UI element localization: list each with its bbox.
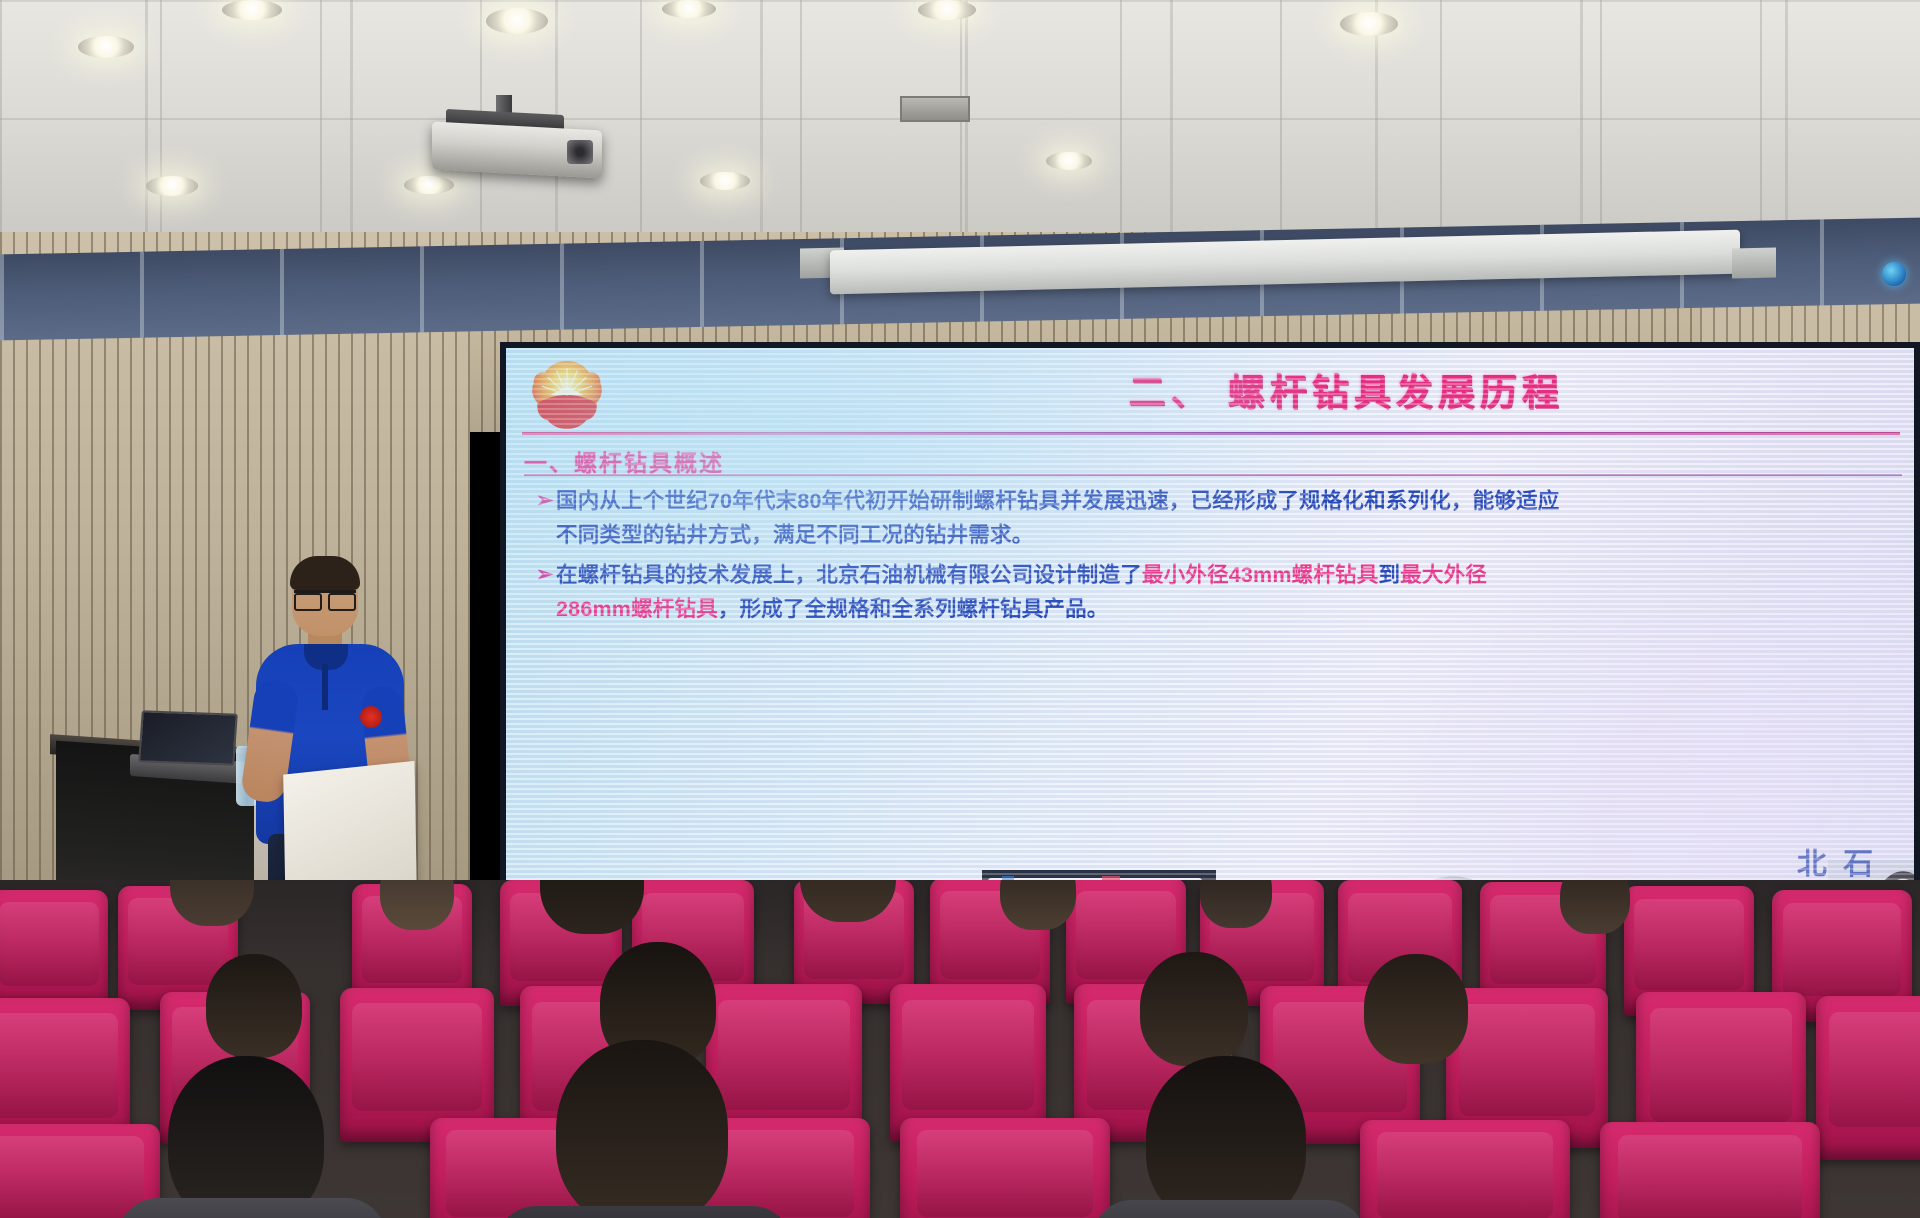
ceiling-light xyxy=(700,172,750,190)
led-screen[interactable]: 二、 螺杆钻具发展历程 一、螺杆钻具概述 ➢ 国内从上个世纪70年代末80年代初… xyxy=(506,348,1914,916)
ceiling-light xyxy=(1340,12,1398,36)
bullet-line: 国内从上个世纪70年代末80年代初开始研制螺杆钻具并发展迅速，已经形成了规格化和… xyxy=(556,484,1896,518)
projector-lens xyxy=(567,140,593,164)
bullet-run: 不同类型的钻井方式，满足不同工况的钻井需求。 xyxy=(556,523,1033,547)
slide-subtitle-row: 一、螺杆钻具概述 xyxy=(524,444,1224,478)
ceiling-light xyxy=(78,36,134,58)
audience-head xyxy=(556,1040,728,1218)
audience-shoulders xyxy=(1092,1200,1366,1218)
bullet-run-highlight: 最小外径43mm螺杆钻具 xyxy=(1142,563,1379,587)
presentation-slide: 二、 螺杆钻具发展历程 一、螺杆钻具概述 ➢ 国内从上个世纪70年代末80年代初… xyxy=(506,348,1914,916)
ceiling-vent xyxy=(900,96,970,122)
bullet-run: 国内从上个世纪70年代末80年代初开始研制螺杆钻具并发展迅速，已经形成了规格化和… xyxy=(556,489,1559,513)
audience-head xyxy=(168,1056,324,1218)
ceiling-light xyxy=(486,8,548,34)
ceiling-light xyxy=(404,176,454,194)
ceiling-light xyxy=(662,0,716,18)
bullet-run: 到 xyxy=(1378,563,1400,587)
ceiling xyxy=(0,0,1920,250)
presenter-badge xyxy=(360,706,382,728)
ceiling-light xyxy=(146,176,198,196)
bullet-line: 在螺杆钻具的技术发展上，北京石油机械有限公司设计制造了最小外径43mm螺杆钻具到… xyxy=(556,558,1896,592)
presentation-photo-scene: 二、 螺杆钻具发展历程 一、螺杆钻具概述 ➢ 国内从上个世纪70年代末80年代初… xyxy=(0,0,1920,1218)
bullet-line: 不同类型的钻井方式，满足不同工况的钻井需求。 xyxy=(556,518,1896,552)
laptop-screen xyxy=(138,710,238,765)
audience-shoulders xyxy=(496,1206,792,1218)
audience-head xyxy=(1146,1056,1306,1218)
bpm-logo-cn: 北 石 xyxy=(1776,850,1898,880)
screen-status-indicator xyxy=(1882,262,1906,286)
slide-bullet-list: ➢ 国内从上个世纪70年代末80年代初开始研制螺杆钻具并发展迅速，已经形成了规格… xyxy=(536,484,1896,632)
chair xyxy=(1360,1120,1570,1218)
bullet-run-highlight: 最大外径 xyxy=(1400,563,1487,587)
chair xyxy=(0,890,108,1010)
chair xyxy=(1600,1122,1820,1218)
title-divider xyxy=(522,432,1900,435)
bullet-text: 在螺杆钻具的技术发展上，北京石油机械有限公司设计制造了最小外径43mm螺杆钻具到… xyxy=(556,558,1896,626)
slide-title: 二、 螺杆钻具发展历程 xyxy=(836,362,1856,416)
bullet-line: 286mm螺杆钻具，形成了全规格和全系列螺杆钻具产品。 xyxy=(556,592,1896,626)
bullet-run: 在螺杆钻具的技术发展上，北京石油机械有限公司设计制造了 xyxy=(556,563,1142,587)
ceiling-light xyxy=(222,0,282,20)
bullet-item: ➢ 在螺杆钻具的技术发展上，北京石油机械有限公司设计制造了最小外径43mm螺杆钻… xyxy=(536,558,1896,626)
audience-head xyxy=(1140,952,1248,1066)
slide-title-bar: 二、 螺杆钻具发展历程 xyxy=(836,362,1856,424)
bullet-run-highlight: 286mm螺杆钻具 xyxy=(556,597,718,621)
chair xyxy=(1816,996,1920,1160)
ceiling-light xyxy=(1046,152,1092,170)
ceiling-light xyxy=(918,0,976,20)
light-bar-end-cap xyxy=(1732,248,1776,279)
bullet-item: ➢ 国内从上个世纪70年代末80年代初开始研制螺杆钻具并发展迅速，已经形成了规格… xyxy=(536,484,1896,552)
cnpc-logo xyxy=(528,358,606,432)
audience-shoulders xyxy=(118,1198,386,1218)
subtitle-underline xyxy=(524,474,1902,476)
bullet-marker-icon: ➢ xyxy=(536,484,556,552)
glasses-icon xyxy=(294,590,356,604)
audience-head xyxy=(1560,880,1630,934)
presenter-placket xyxy=(322,664,328,710)
bullet-text: 国内从上个世纪70年代末80年代初开始研制螺杆钻具并发展迅速，已经形成了规格化和… xyxy=(556,484,1896,552)
bullet-run: ，形成了全规格和全系列螺杆钻具产品。 xyxy=(718,597,1109,621)
seated-audience xyxy=(0,880,1920,1218)
chair xyxy=(900,1118,1110,1218)
slide-subtitle: 一、螺杆钻具概述 xyxy=(524,450,724,476)
presenter-hair xyxy=(290,556,360,590)
audience-head xyxy=(206,954,302,1058)
bullet-marker-icon: ➢ xyxy=(536,558,556,626)
audience-head xyxy=(1364,954,1468,1064)
